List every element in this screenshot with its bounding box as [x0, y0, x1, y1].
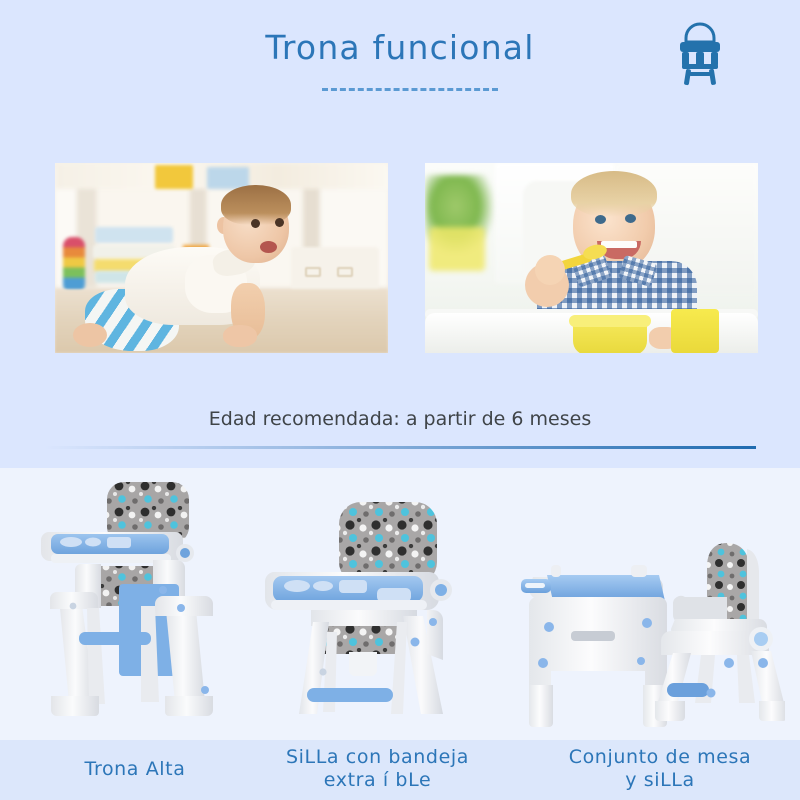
title-dashed-divider — [322, 88, 498, 91]
infographic-page: Trona funcional — [0, 0, 800, 800]
caption-line-1: SiLLa con bandeja — [255, 746, 500, 769]
caption-conjunto-mesa-y-silla: Conjunto de mesa y siLLa — [530, 746, 790, 792]
top-section: Trona funcional — [0, 0, 800, 468]
baby-eating-photo — [425, 163, 758, 353]
product-image-trona-alta — [35, 480, 250, 730]
age-divider-rule — [44, 446, 756, 449]
caption-trona-alta: Trona Alta — [10, 758, 260, 781]
caption-silla-bandeja-extraible: SiLLa con bandeja extra í bLe — [255, 746, 500, 792]
baby-crawling-photo — [55, 163, 388, 353]
caption-line-2: y siLLa — [530, 769, 790, 792]
age-recommendation-text: Edad recomendada: a partir de 6 meses — [0, 408, 800, 430]
product-image-silla-bandeja-extraible — [265, 492, 475, 720]
caption-line-1: Conjunto de mesa — [530, 746, 790, 769]
high-chair-icon — [660, 12, 740, 92]
caption-line-2: extra í bLe — [255, 769, 500, 792]
product-image-conjunto-mesa-y-silla — [515, 535, 785, 731]
